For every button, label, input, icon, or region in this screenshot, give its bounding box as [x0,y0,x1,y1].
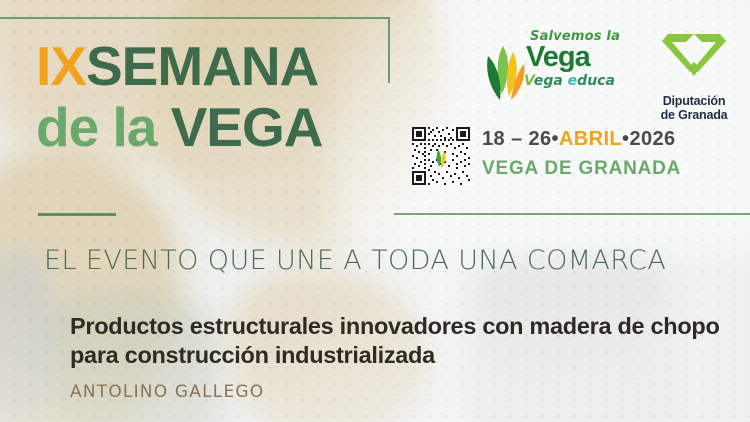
event-month: ABRIL [559,128,622,150]
headline-line-2: de la VEGA [36,101,323,153]
date-separator-left: • [552,128,559,150]
salvemos-la-vega-logo: Salvemos la Vega Vega educa [478,30,618,114]
event-tagline: EL EVENTO QUE UNE A TODA UNA COMARCA [44,245,666,276]
diputacion-chevron-icon [660,32,728,82]
poster-headline: IXSEMANA de la VEGA [36,40,323,154]
event-dates: 18 – 26•ABRIL•2026 [482,128,681,151]
diputacion-de-granada-logo: Diputación de Granada [640,30,748,122]
date-text-block: 18 – 26•ABRIL•2026 VEGA DE GRANADA [482,127,681,180]
event-year: 2026 [629,128,675,150]
vega-educa-tagline: Vega educa [524,74,622,88]
event-poster: IXSEMANA de la VEGA Salvemos la Vega Veg… [0,0,750,422]
vega-educa-part-4: duca [577,73,615,89]
divider-rule-left [38,213,116,216]
headline-roman-numeral: IX [36,35,86,97]
event-location: VEGA DE GRANADA [482,158,681,180]
logo-row: Salvemos la Vega Vega educa Diputación d… [478,30,748,122]
diputacion-label: Diputación de Granada [640,95,748,122]
vega-educa-part-1: V [524,73,534,89]
headline-word-vega: VEGA [171,96,323,158]
headline-word-semana: SEMANA [86,35,318,97]
session-title: Productos estructurales innovadores con … [70,312,730,369]
session-block: Productos estructurales innovadores con … [70,312,730,402]
vega-educa-part-2: ega [534,73,568,89]
session-speaker: ANTOLINO GALLEGO [70,382,730,402]
date-and-place-block: 18 – 26•ABRIL•2026 VEGA DE GRANADA [412,127,681,185]
divider-rule-right [394,213,750,215]
headline-line-1: IXSEMANA [36,40,323,92]
diputacion-label-line-1: Diputación [640,95,748,109]
event-days: 18 – 26 [482,128,552,150]
salvemos-text-block: Salvemos la Vega Vega educa [526,30,622,88]
qr-code-icon[interactable] [412,127,470,185]
diputacion-label-line-2: de Granada [640,109,748,123]
headline-word-dela: de la [36,96,171,158]
salvemos-vega-word: Vega [526,44,622,71]
vega-educa-part-3: e [568,73,578,89]
